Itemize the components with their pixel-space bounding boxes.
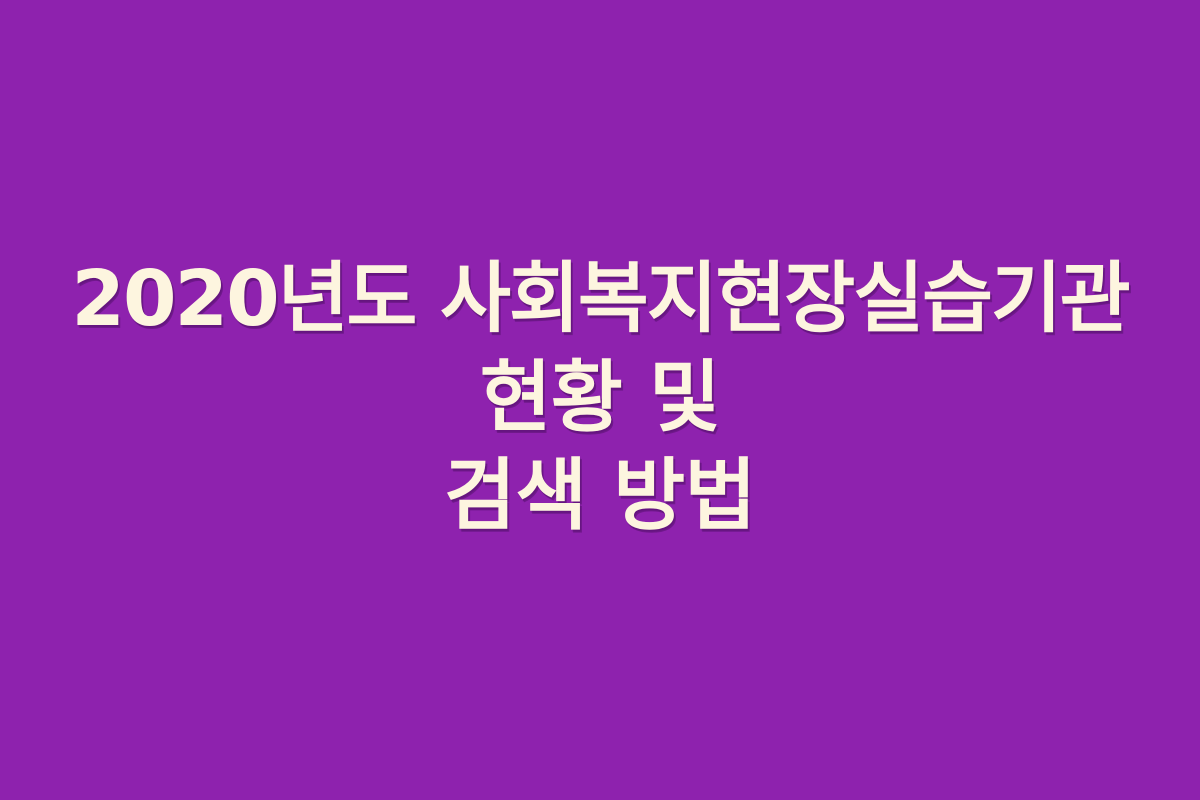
title-line-2: 현황 및 xyxy=(30,349,1170,447)
title-line-1: 2020년도 사회복지현장실습기관 xyxy=(30,251,1170,349)
title-line-3: 검색 방법 xyxy=(30,447,1170,545)
title-card-canvas: 2020년도 사회복지현장실습기관 현황 및 검색 방법 xyxy=(0,0,1200,800)
title-block: 2020년도 사회복지현장실습기관 현황 및 검색 방법 xyxy=(30,251,1170,545)
